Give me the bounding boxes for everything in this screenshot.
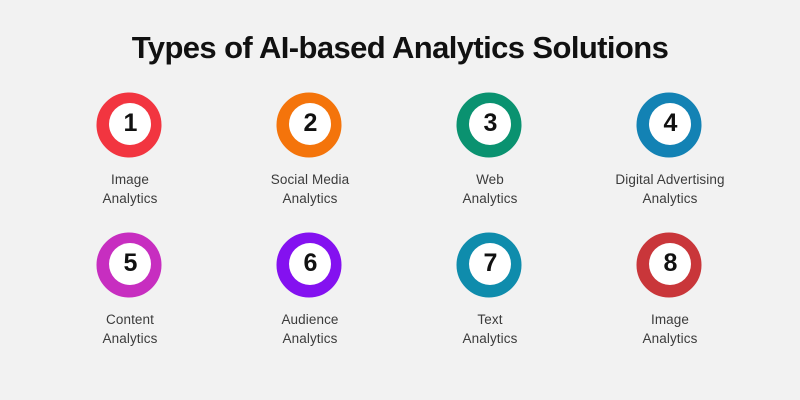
label-line-1: Audience xyxy=(281,310,338,329)
badge-number: 8 xyxy=(664,251,678,276)
solution-label-3: Web Analytics xyxy=(463,170,518,208)
solution-item-5: 5 Content Analytics xyxy=(40,230,220,360)
solution-item-1: 1 Image Analytics xyxy=(40,90,220,220)
solution-item-8: 8 Image Analytics xyxy=(580,230,760,360)
numbered-badge-1: 1 xyxy=(96,90,164,158)
badge-number: 5 xyxy=(124,251,138,276)
numbered-badge-3: 3 xyxy=(456,90,524,158)
badge-number: 6 xyxy=(304,251,318,276)
solution-label-8: Image Analytics xyxy=(643,310,698,348)
solution-item-4: 4 Digital Advertising Analytics xyxy=(580,90,760,220)
label-line-2: Analytics xyxy=(271,189,350,208)
label-line-1: Social Media xyxy=(271,170,350,189)
label-line-1: Content xyxy=(103,310,158,329)
badge-number: 3 xyxy=(484,111,498,136)
numbered-badge-7: 7 xyxy=(456,230,524,298)
solution-label-1: Image Analytics xyxy=(103,170,158,208)
numbered-badge-2: 2 xyxy=(276,90,344,158)
label-line-1: Image xyxy=(103,170,158,189)
numbered-badge-4: 4 xyxy=(636,90,704,158)
badge-number: 2 xyxy=(304,111,318,136)
badge-number: 4 xyxy=(664,111,678,136)
label-line-2: Analytics xyxy=(643,329,698,348)
badge-number: 7 xyxy=(484,251,498,276)
numbered-badge-8: 8 xyxy=(636,230,704,298)
label-line-2: Analytics xyxy=(281,329,338,348)
label-line-2: Analytics xyxy=(103,189,158,208)
label-line-2: Analytics xyxy=(615,189,724,208)
badge-number: 1 xyxy=(124,111,138,136)
solution-item-2: 2 Social Media Analytics xyxy=(220,90,400,220)
label-line-1: Web xyxy=(463,170,518,189)
solution-label-7: Text Analytics xyxy=(463,310,518,348)
solution-item-7: 7 Text Analytics xyxy=(400,230,580,360)
solutions-grid: 1 Image Analytics 2 Social Media Analyti… xyxy=(40,90,760,360)
numbered-badge-5: 5 xyxy=(96,230,164,298)
page-title: Types of AI-based Analytics Solutions xyxy=(132,30,668,66)
label-line-2: Analytics xyxy=(103,329,158,348)
solution-item-6: 6 Audience Analytics xyxy=(220,230,400,360)
label-line-2: Analytics xyxy=(463,189,518,208)
solution-label-2: Social Media Analytics xyxy=(271,170,350,208)
label-line-1: Text xyxy=(463,310,518,329)
solution-label-5: Content Analytics xyxy=(103,310,158,348)
infographic-container: Types of AI-based Analytics Solutions 1 … xyxy=(0,0,800,400)
solution-label-6: Audience Analytics xyxy=(281,310,338,348)
solution-item-3: 3 Web Analytics xyxy=(400,90,580,220)
label-line-2: Analytics xyxy=(463,329,518,348)
label-line-1: Digital Advertising xyxy=(615,170,724,189)
numbered-badge-6: 6 xyxy=(276,230,344,298)
label-line-1: Image xyxy=(643,310,698,329)
solution-label-4: Digital Advertising Analytics xyxy=(615,170,724,208)
